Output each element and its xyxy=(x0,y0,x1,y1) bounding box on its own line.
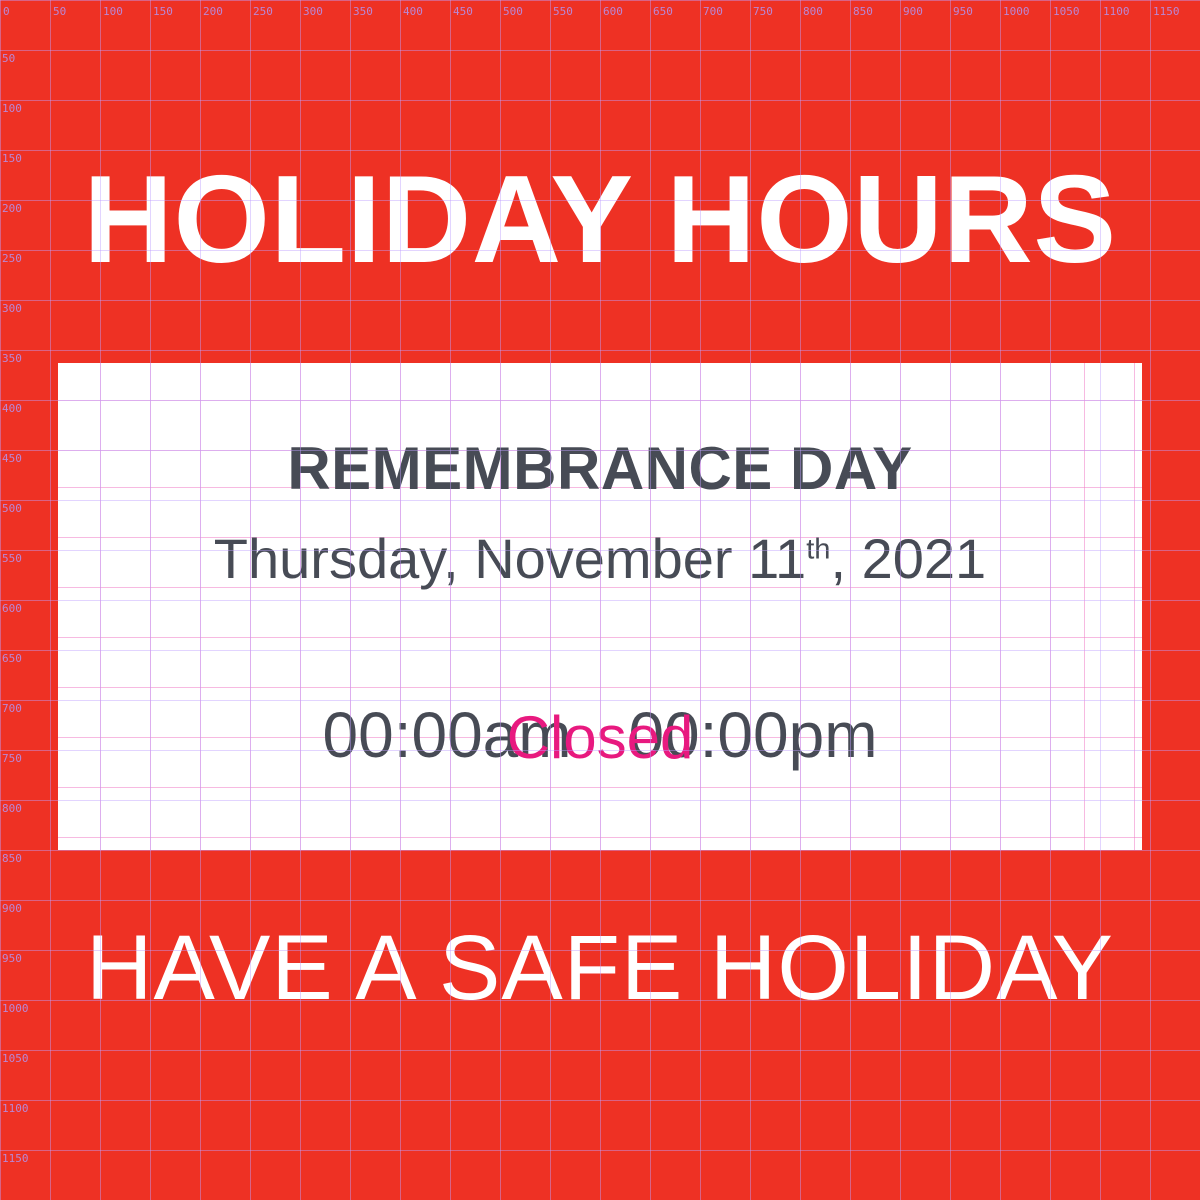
holiday-info-card: REMEMBRANCE DAY Thursday, November 11th,… xyxy=(58,363,1142,850)
grid-label-x: 800 xyxy=(803,6,823,17)
grid-label-x: 0 xyxy=(3,6,10,17)
status-badge: Closed xyxy=(58,708,1142,768)
grid-label-y: 600 xyxy=(2,603,22,614)
page-title: HOLIDAY HOURS xyxy=(0,158,1200,282)
footer-message: HAVE A SAFE HOLIDAY xyxy=(0,922,1200,1014)
grid-label-y: 850 xyxy=(2,853,22,864)
grid-label-x: 100 xyxy=(103,6,123,17)
grid-label-x: 50 xyxy=(53,6,66,17)
grid-label-y: 100 xyxy=(2,103,22,114)
grid-label-x: 200 xyxy=(203,6,223,17)
hours-stack: 00:00am - 00:00pm Closed xyxy=(58,703,1142,793)
grid-label-x: 700 xyxy=(703,6,723,17)
grid-label-x: 500 xyxy=(503,6,523,17)
grid-label-x: 550 xyxy=(553,6,573,17)
grid-label-x: 900 xyxy=(903,6,923,17)
grid-label-x: 250 xyxy=(253,6,273,17)
grid-label-y: 750 xyxy=(2,753,22,764)
grid-label-x: 1050 xyxy=(1053,6,1080,17)
grid-label-y: 1150 xyxy=(2,1153,29,1164)
grid-label-x: 750 xyxy=(753,6,773,17)
grid-label-x: 950 xyxy=(953,6,973,17)
grid-label-x: 1000 xyxy=(1003,6,1030,17)
grid-label-y: 1050 xyxy=(2,1053,29,1064)
grid-label-y: 1100 xyxy=(2,1103,29,1114)
grid-label-x: 450 xyxy=(453,6,473,17)
grid-label-y: 500 xyxy=(2,503,22,514)
holiday-date-ordinal-suffix: th xyxy=(806,533,830,565)
grid-label-x: 650 xyxy=(653,6,673,17)
holiday-hours-poster: HOLIDAY HOURS REMEMBRANCE DAY Thursday, … xyxy=(0,0,1200,1200)
grid-label-y: 900 xyxy=(2,903,22,914)
grid-label-x: 600 xyxy=(603,6,623,17)
holiday-date: Thursday, November 11th, 2021 xyxy=(58,531,1142,587)
grid-label-x: 350 xyxy=(353,6,373,17)
grid-label-x: 1100 xyxy=(1103,6,1130,17)
grid-label-x: 850 xyxy=(853,6,873,17)
grid-label-y: 650 xyxy=(2,653,22,664)
grid-label-x: 150 xyxy=(153,6,173,17)
holiday-date-main: Thursday, November 11 xyxy=(214,527,806,590)
grid-label-y: 550 xyxy=(2,553,22,564)
holiday-name: REMEMBRANCE DAY xyxy=(58,439,1142,499)
holiday-date-year: , 2021 xyxy=(830,527,986,590)
grid-label-y: 350 xyxy=(2,353,22,364)
grid-label-y: 450 xyxy=(2,453,22,464)
grid-label-y: 300 xyxy=(2,303,22,314)
grid-label-y: 50 xyxy=(2,53,15,64)
grid-label-x: 300 xyxy=(303,6,323,17)
grid-label-x: 400 xyxy=(403,6,423,17)
grid-label-y: 700 xyxy=(2,703,22,714)
grid-label-x: 1150 xyxy=(1153,6,1180,17)
grid-label-y: 400 xyxy=(2,403,22,414)
grid-label-y: 800 xyxy=(2,803,22,814)
